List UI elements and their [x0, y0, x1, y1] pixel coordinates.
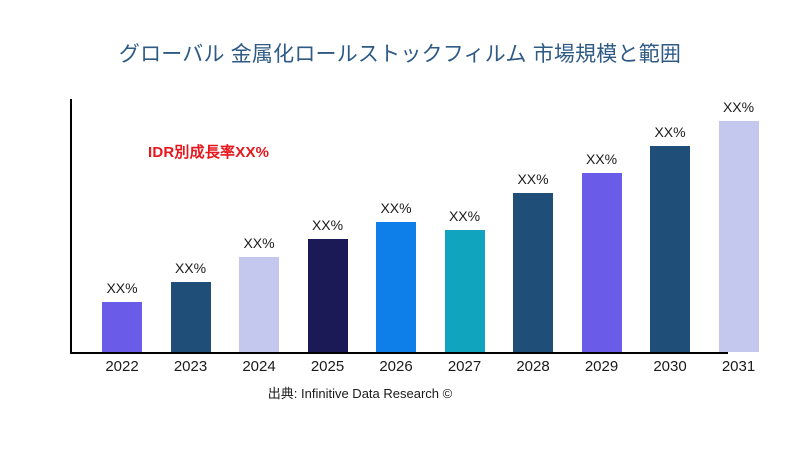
bar-value-label-2022: XX%: [106, 280, 137, 296]
bar-group-2024[interactable]: XX%: [239, 257, 279, 352]
bar-group-2031[interactable]: XX%: [719, 121, 759, 352]
bar-group-2022[interactable]: XX%: [102, 302, 142, 352]
bar-2028[interactable]: [513, 193, 553, 352]
bar-value-label-2029: XX%: [586, 151, 617, 167]
bar-value-label-2028: XX%: [517, 171, 548, 187]
bar-2031[interactable]: [719, 121, 759, 352]
bar-2029[interactable]: [582, 173, 622, 352]
bar-group-2029[interactable]: XX%: [582, 173, 622, 352]
page-title: グローバル 金属化ロールストックフィルム 市場規模と範囲: [0, 38, 800, 68]
bar-value-label-2031: XX%: [723, 99, 754, 115]
bar-2027[interactable]: [445, 230, 485, 352]
bar-2025[interactable]: [308, 239, 348, 352]
bar-2026[interactable]: [376, 222, 416, 352]
chart-page: グローバル 金属化ロールストックフィルム 市場規模と範囲 100万ドル IDR別…: [0, 0, 800, 450]
bar-group-2026[interactable]: XX%: [376, 222, 416, 352]
bar-value-label-2030: XX%: [654, 124, 685, 140]
bar-group-2027[interactable]: XX%: [445, 230, 485, 352]
bar-group-2028[interactable]: XX%: [513, 193, 553, 352]
bar-value-label-2026: XX%: [380, 200, 411, 216]
bar-group-2025[interactable]: XX%: [308, 239, 348, 352]
bar-2030[interactable]: [650, 146, 690, 352]
bar-value-label-2024: XX%: [243, 235, 274, 251]
bar-2023[interactable]: [171, 282, 211, 352]
bar-2024[interactable]: [239, 257, 279, 352]
bar-2022[interactable]: [102, 302, 142, 352]
x-tick-2031: 2031: [699, 358, 779, 375]
source-caption: 出典: Infinitive Data Research ©: [0, 383, 720, 402]
bar-value-label-2027: XX%: [449, 208, 480, 224]
bar-group-2030[interactable]: XX%: [650, 146, 690, 352]
bar-value-label-2025: XX%: [312, 217, 343, 233]
bar-group-2023[interactable]: XX%: [171, 282, 211, 352]
bar-value-label-2023: XX%: [175, 260, 206, 276]
